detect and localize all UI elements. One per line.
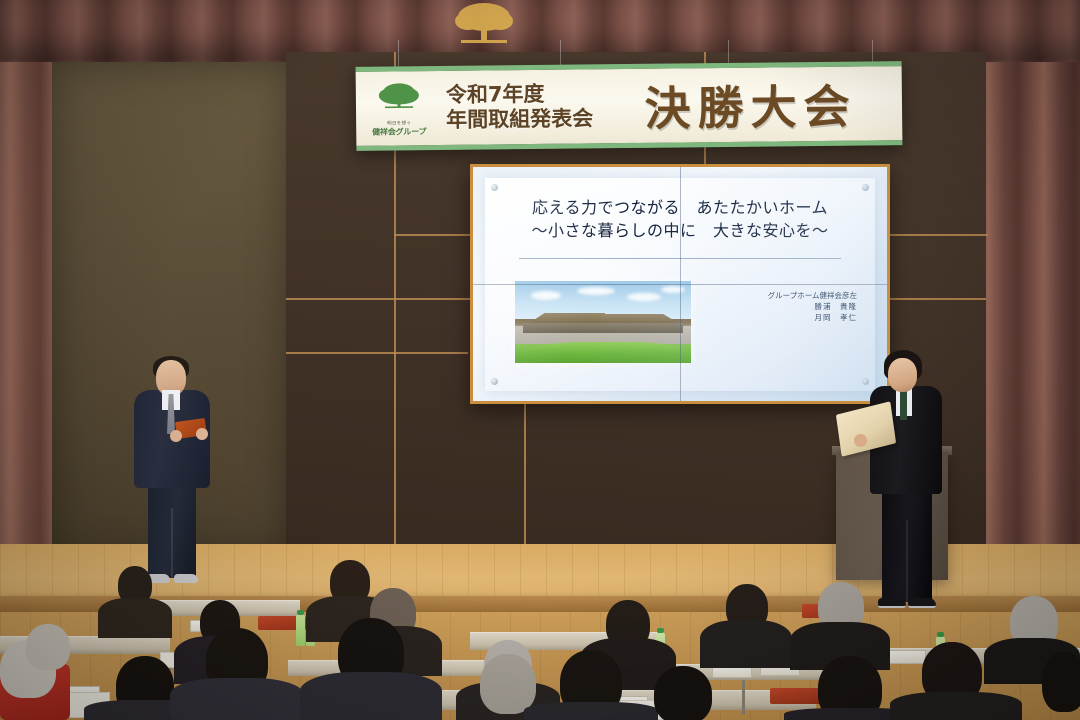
slide-credit-org: グループホーム健祥会彦左 xyxy=(768,290,857,301)
audience-person xyxy=(170,678,304,720)
video-wall-frame: 応える力でつながる あたたかいホーム ～小さな暮らしの中に 大きな安心を～ xyxy=(470,164,890,404)
video-wall-seam-horizontal xyxy=(473,284,887,285)
banner-subtitle: 令和7年度 年間取組発表会 xyxy=(442,81,604,133)
slide-credit-name-1: 勝浦 貴隆 xyxy=(768,301,857,312)
slide-credits: グループホーム健祥会彦左 勝浦 貴隆 月岡 孝仁 xyxy=(768,290,857,323)
red-document-box xyxy=(770,688,822,704)
banner-subtitle-line2: 年間取組発表会 xyxy=(446,106,593,133)
wall-trim-horizontal-2 xyxy=(286,352,468,354)
slide-credit-name-2: 月岡 孝仁 xyxy=(768,312,857,323)
drink-bottle xyxy=(296,614,305,646)
banner-subtitle-line1: 令和7年度 xyxy=(446,81,593,108)
stage-scene: 明日を想う 健祥会グループ 令和7年度 年間取組発表会 決勝大会 応える力でつな… xyxy=(0,0,1080,720)
event-banner: 明日を想う 健祥会グループ 令和7年度 年間取組発表会 決勝大会 xyxy=(356,61,903,151)
banner-logo: 明日を想う 健祥会グループ xyxy=(356,71,443,146)
audience-person xyxy=(700,620,792,668)
banner-logo-org-name: 健祥会グループ xyxy=(372,126,426,138)
audience-person xyxy=(98,598,172,638)
screen-screw-icon xyxy=(491,378,498,385)
banner-title: 決勝大会 xyxy=(603,70,903,139)
table-leg xyxy=(742,680,745,714)
audience-person xyxy=(26,624,70,670)
audience-person xyxy=(890,692,1022,720)
facility-photo xyxy=(515,281,691,363)
screen-screw-icon xyxy=(862,184,869,191)
audience-person xyxy=(300,672,442,720)
presenter-standing-left xyxy=(118,358,226,586)
audience-person xyxy=(1042,652,1080,712)
audience-person xyxy=(654,666,712,720)
audience-person xyxy=(524,702,658,720)
screen-screw-icon xyxy=(491,184,498,191)
audience-person xyxy=(480,654,536,714)
tree-logo-icon xyxy=(377,81,421,120)
name-card xyxy=(884,650,926,664)
presenter-at-podium xyxy=(860,350,952,618)
video-wall-screen: 応える力でつながる あたたかいホーム ～小さな暮らしの中に 大きな安心を～ xyxy=(473,167,887,401)
